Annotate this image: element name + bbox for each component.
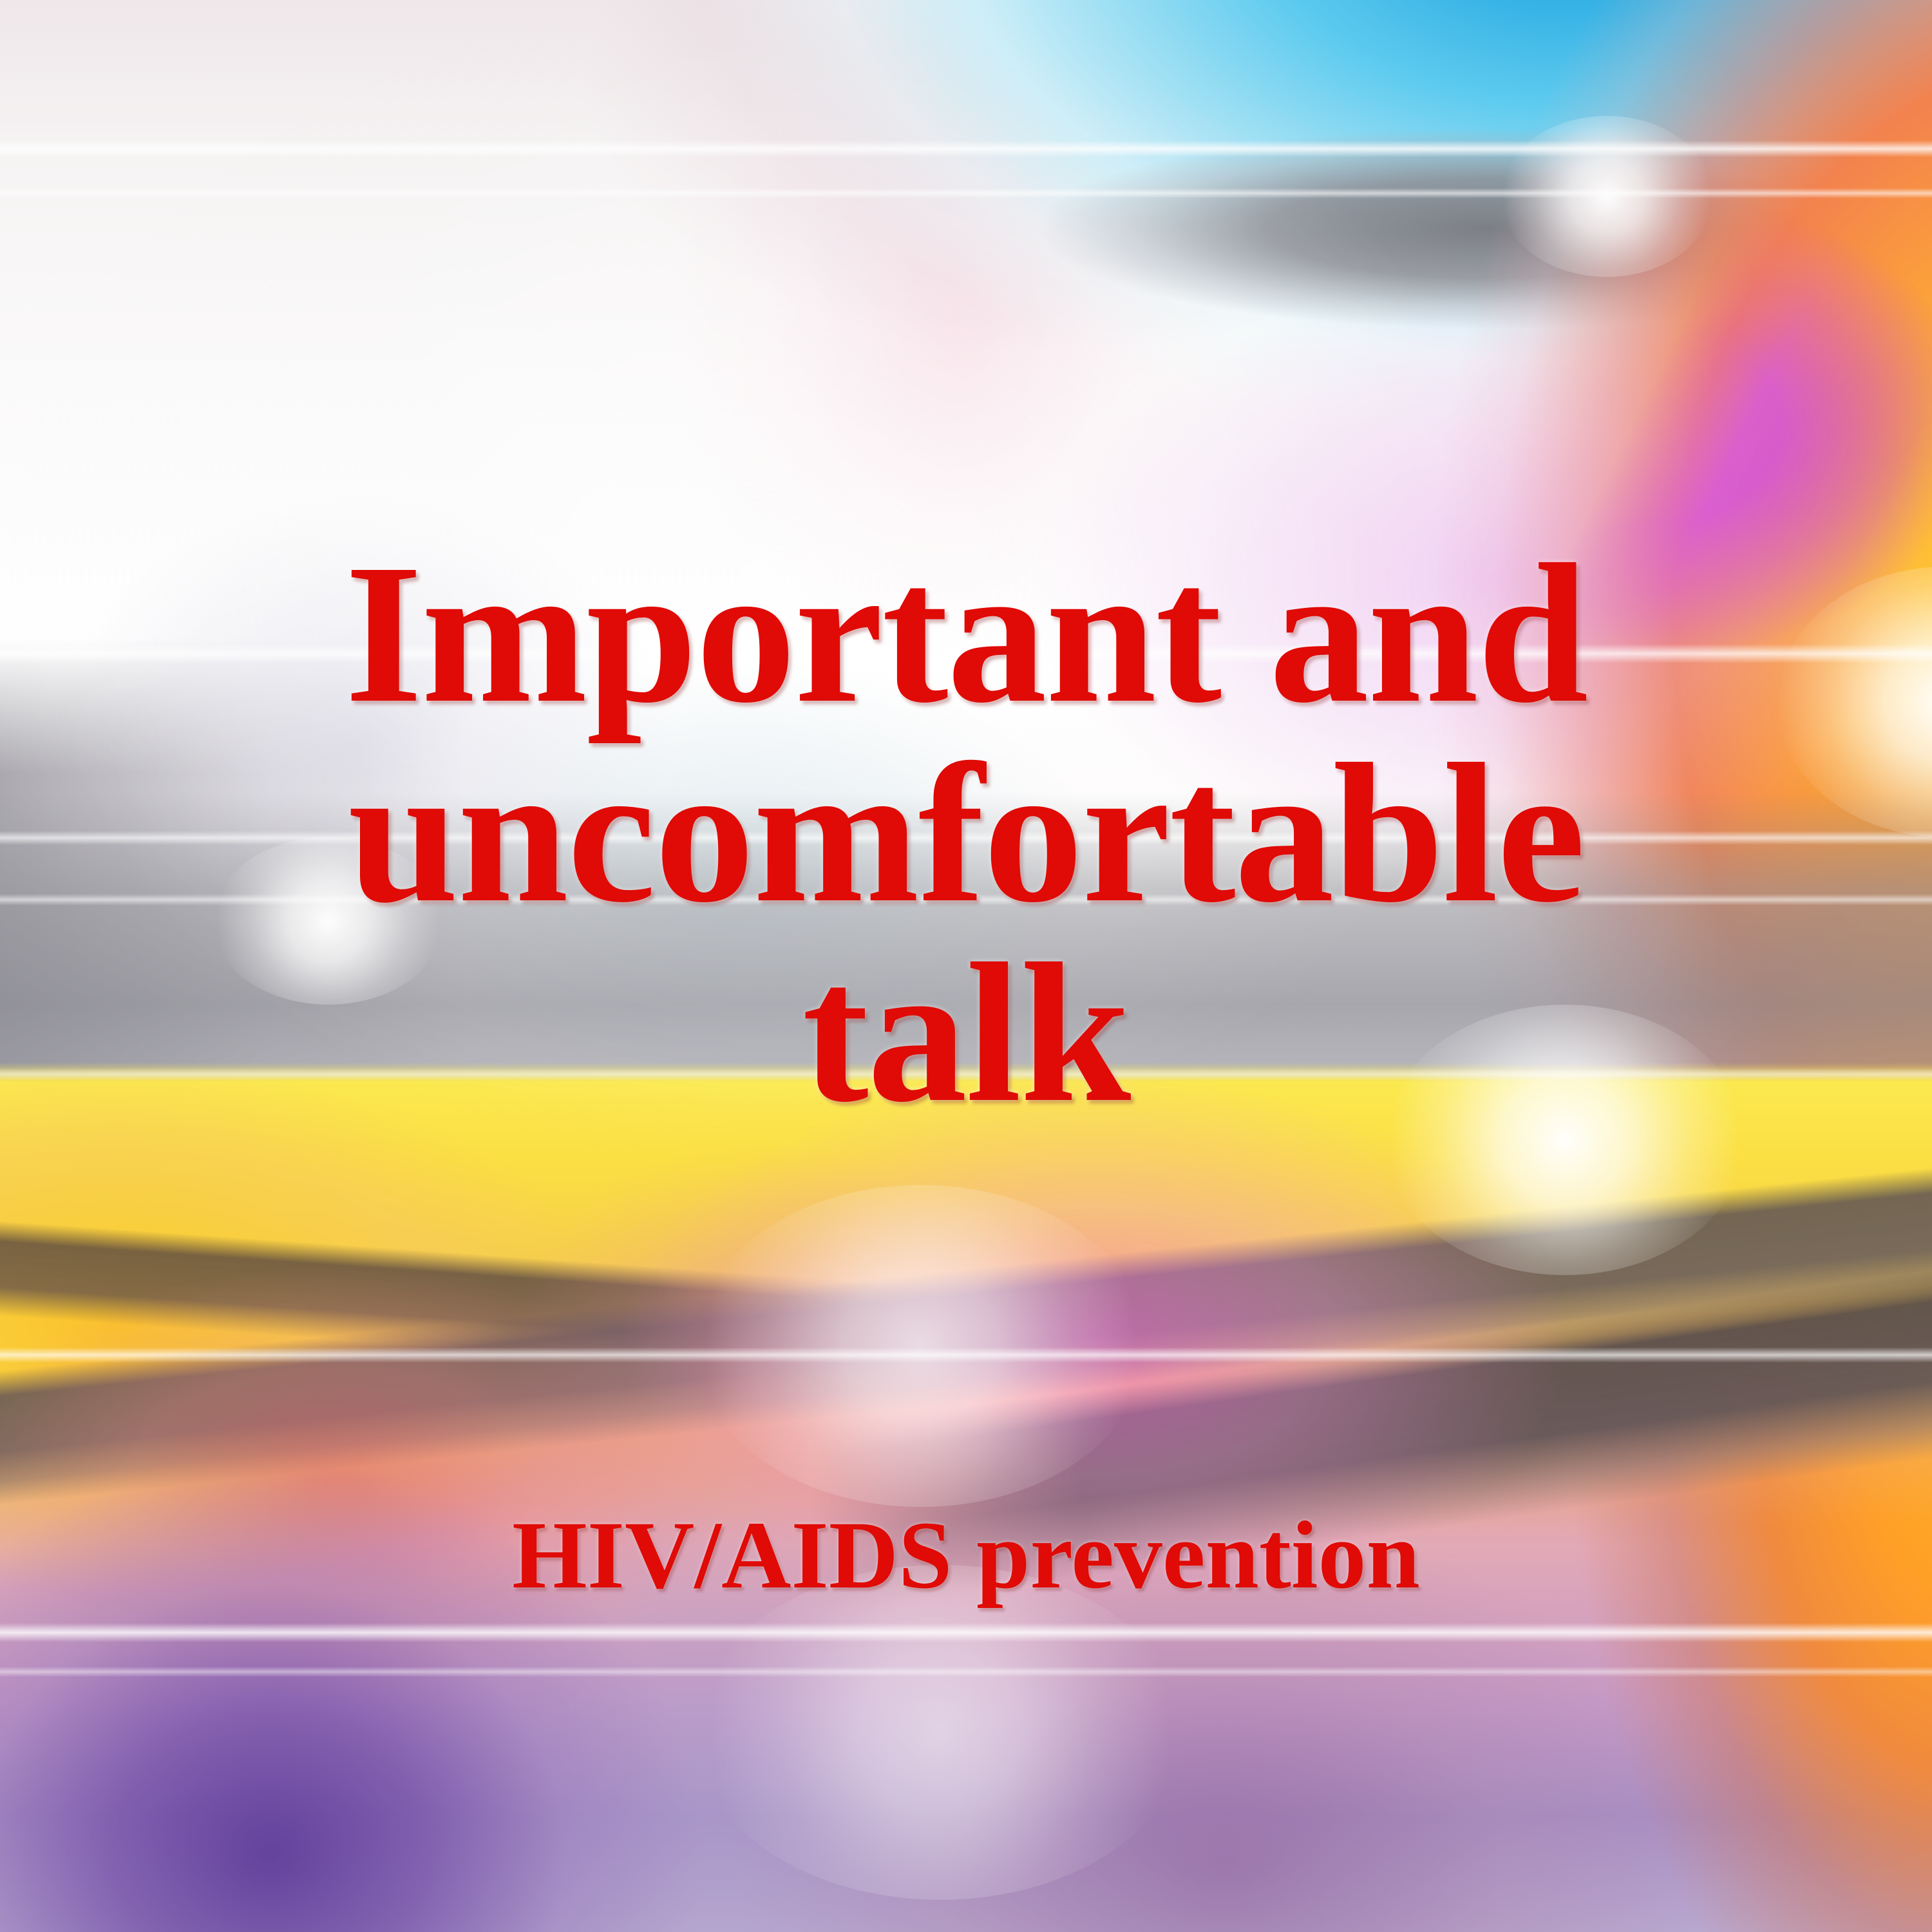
title-line-3: talk — [193, 934, 1739, 1133]
text-block: Important and uncomfortable talk HIV/AID… — [0, 0, 1932, 1932]
poster-slide: Important and uncomfortable talk HIV/AID… — [0, 0, 1932, 1932]
page-title: Important and uncomfortable talk — [193, 535, 1739, 1133]
title-line-2: uncomfortable — [193, 734, 1739, 934]
page-subtitle: HIV/AIDS prevention — [193, 1507, 1739, 1604]
title-line-1: Important and — [193, 535, 1739, 734]
